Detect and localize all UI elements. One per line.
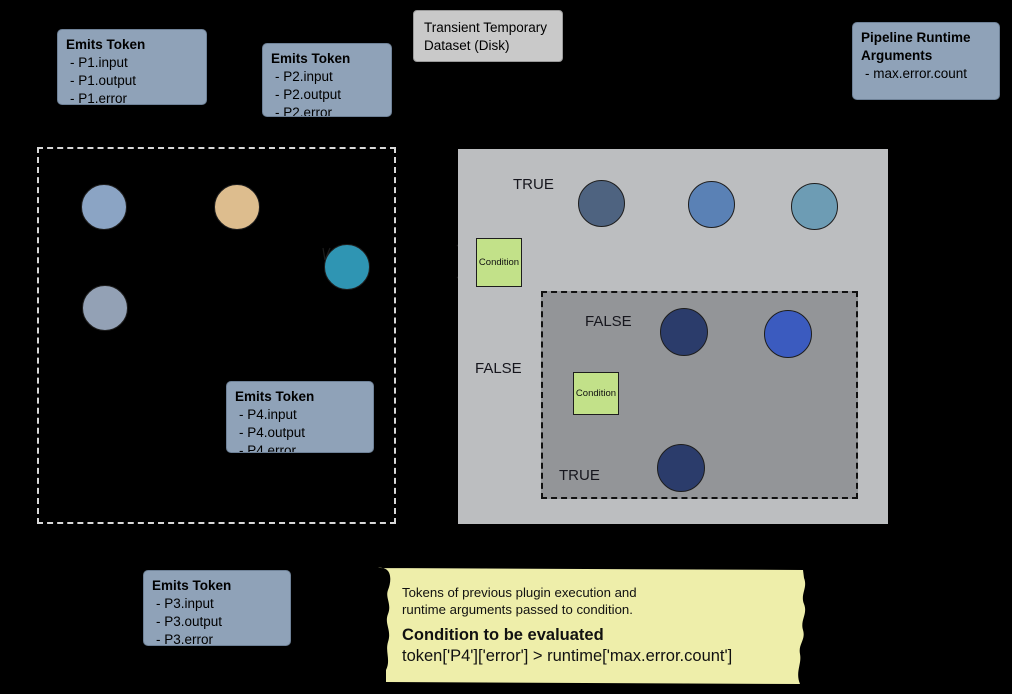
token-item: - P2.error xyxy=(271,104,383,117)
node-true-3[interactable] xyxy=(791,183,838,230)
node-inner-false-2[interactable] xyxy=(764,310,812,358)
callout-expression: token['P4']['error'] > runtime['max.erro… xyxy=(402,647,802,666)
runtime-args-item: - max.error.count xyxy=(861,65,991,83)
node-true-2[interactable] xyxy=(688,181,735,228)
token-item: - P4.input xyxy=(235,406,365,424)
runtime-args-title-line-2: Arguments xyxy=(861,47,991,65)
transient-dataset-box: Transient Temporary Dataset (Disk) xyxy=(413,10,563,62)
runtime-args-title-line-1: Pipeline Runtime xyxy=(861,29,991,47)
token-item: - P2.input xyxy=(271,68,383,86)
inner-condition-box[interactable]: Condition xyxy=(573,372,619,415)
token-item: - P1.input xyxy=(66,54,198,72)
transient-line-2: Dataset (Disk) xyxy=(424,37,552,55)
label-outer-true: TRUE xyxy=(513,176,554,193)
callout-lead-line-1: Tokens of previous plugin execution and xyxy=(402,584,802,601)
token-item: - P1.error xyxy=(66,90,198,105)
emits-token-box-p2: Emits Token - P2.input - P2.output - P2.… xyxy=(262,43,392,117)
emits-token-box-p3: Emits Token - P3.input - P3.output - P3.… xyxy=(143,570,291,646)
transient-line-1: Transient Temporary xyxy=(424,19,552,37)
emits-token-box-p1: Emits Token - P1.input - P1.output - P1.… xyxy=(57,29,207,105)
node-p1[interactable] xyxy=(81,184,127,230)
token-item: - P3.output xyxy=(152,613,282,631)
token-title: Emits Token xyxy=(152,577,282,595)
inner-condition-label: Condition xyxy=(576,388,616,399)
token-item: - P3.input xyxy=(152,595,282,613)
node-inner-false-1[interactable] xyxy=(660,308,708,356)
token-item: - P4.output xyxy=(235,424,365,442)
token-title: Emits Token xyxy=(66,36,198,54)
token-title: Emits Token xyxy=(235,388,365,406)
token-item: - P2.output xyxy=(271,86,383,104)
outer-condition-label: Condition xyxy=(479,257,519,268)
token-title: Emits Token xyxy=(271,50,383,68)
diagram-canvas: Condition Condition TRUE FALSE FALSE TRU… xyxy=(0,0,1012,694)
token-item: - P3.error xyxy=(152,631,282,646)
node-p2[interactable] xyxy=(214,184,260,230)
node-inner-true-1[interactable] xyxy=(657,444,705,492)
node-p3[interactable] xyxy=(82,285,128,331)
node-p4[interactable] xyxy=(324,244,370,290)
token-item: - P1.output xyxy=(66,72,198,90)
label-outer-false: FALSE xyxy=(475,360,522,377)
callout-heading: Condition to be evaluated xyxy=(402,626,802,645)
condition-callout: Tokens of previous plugin execution and … xyxy=(378,566,808,686)
outer-condition-box[interactable]: Condition xyxy=(476,238,522,287)
token-item: - P4.error xyxy=(235,442,365,453)
label-inner-true: TRUE xyxy=(559,467,600,484)
emits-token-box-p4: Emits Token - P4.input - P4.output - P4.… xyxy=(226,381,374,453)
callout-lead-line-2: runtime arguments passed to condition. xyxy=(402,601,802,618)
node-true-1[interactable] xyxy=(578,180,625,227)
pipeline-runtime-arguments-box: Pipeline Runtime Arguments - max.error.c… xyxy=(852,22,1000,100)
label-inner-false: FALSE xyxy=(585,313,632,330)
